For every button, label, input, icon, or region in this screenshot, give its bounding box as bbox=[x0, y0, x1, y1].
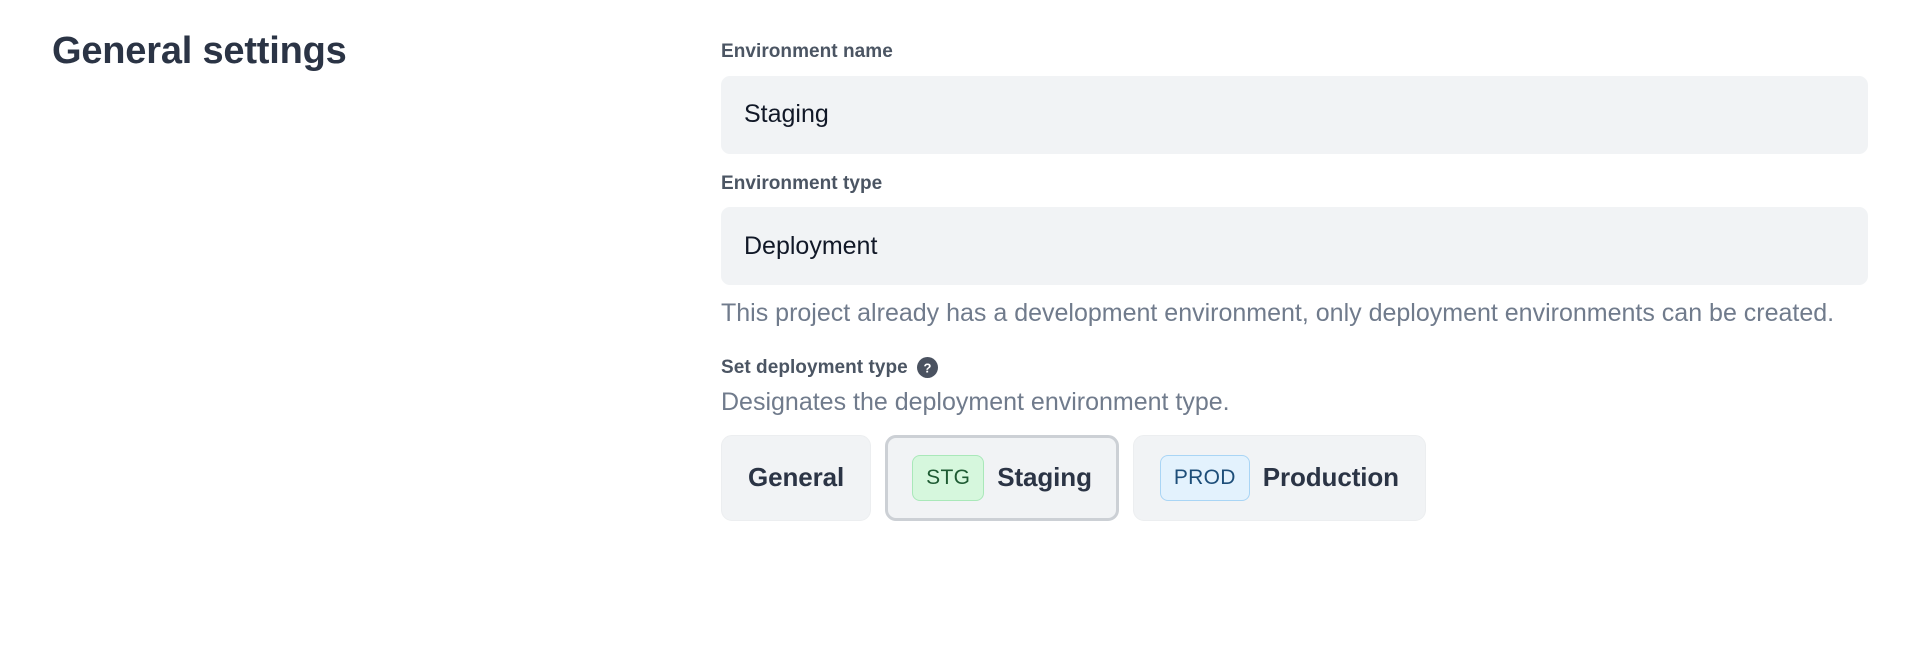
deployment-type-block: Set deployment type ? Designates the dep… bbox=[721, 357, 1868, 521]
environment-type-label: Environment type bbox=[721, 172, 1868, 197]
deployment-type-label-row: Set deployment type ? bbox=[721, 357, 1868, 379]
prod-badge: PROD bbox=[1160, 455, 1250, 501]
deployment-type-segmented-control: General STG Staging PROD Production bbox=[721, 435, 1868, 521]
deployment-type-option-general[interactable]: General bbox=[721, 435, 871, 521]
deployment-type-option-production[interactable]: PROD Production bbox=[1133, 435, 1426, 521]
deployment-type-description: Designates the deployment environment ty… bbox=[721, 386, 1868, 419]
environment-name-label: Environment name bbox=[721, 40, 1868, 65]
stg-badge: STG bbox=[912, 455, 984, 501]
page-title: General settings bbox=[52, 30, 672, 74]
deployment-type-option-general-label: General bbox=[748, 462, 844, 493]
settings-form: Environment name Environment type This p… bbox=[721, 40, 1868, 521]
deployment-type-label: Set deployment type bbox=[721, 357, 908, 379]
deployment-type-option-production-label: Production bbox=[1263, 462, 1399, 493]
environment-name-input[interactable] bbox=[721, 76, 1868, 154]
deployment-type-option-staging[interactable]: STG Staging bbox=[885, 435, 1119, 521]
environment-type-input[interactable] bbox=[721, 207, 1868, 285]
environment-type-helper-text: This project already has a development e… bbox=[721, 297, 1861, 330]
help-circle-icon[interactable]: ? bbox=[917, 357, 938, 378]
environment-type-field-group: Environment type This project already ha… bbox=[721, 172, 1868, 331]
deployment-type-option-staging-label: Staging bbox=[997, 462, 1092, 493]
svg-text:?: ? bbox=[923, 361, 931, 376]
section-heading-column: General settings bbox=[52, 30, 672, 74]
general-settings-page: General settings Environment name Enviro… bbox=[0, 0, 1916, 652]
environment-name-field-group: Environment name bbox=[721, 40, 1868, 154]
